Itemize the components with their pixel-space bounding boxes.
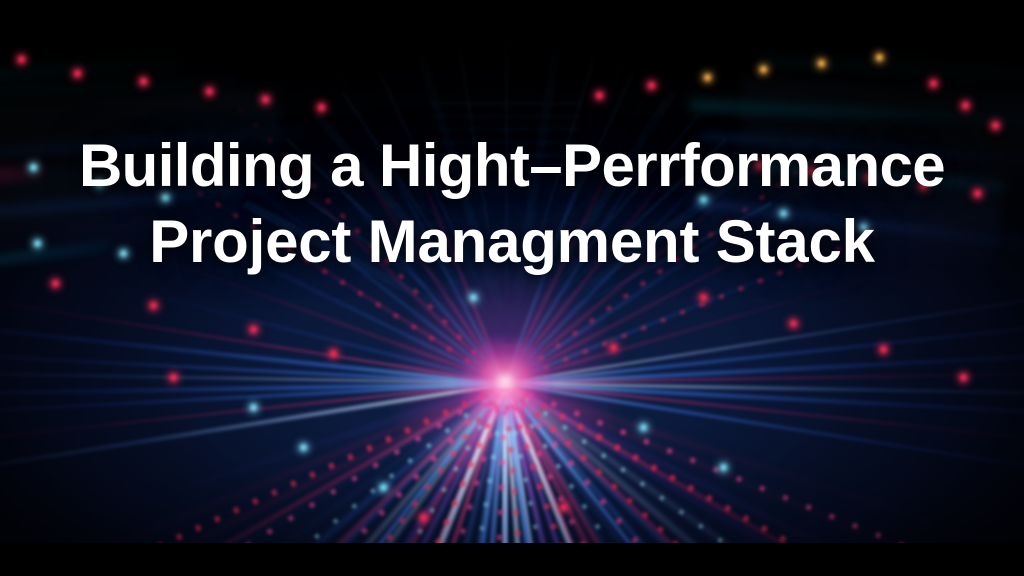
led-light bbox=[52, 280, 59, 287]
vanishing-point-glow bbox=[455, 334, 555, 430]
led-light bbox=[962, 102, 969, 109]
led-light bbox=[960, 374, 967, 381]
led-light bbox=[250, 326, 257, 333]
led-light bbox=[930, 80, 937, 87]
led-light bbox=[760, 66, 767, 73]
led-light bbox=[380, 484, 387, 491]
led-light bbox=[560, 504, 567, 511]
led-light bbox=[250, 404, 257, 411]
led-light bbox=[420, 514, 427, 521]
led-light bbox=[206, 88, 213, 95]
led-light bbox=[596, 92, 603, 99]
background-image bbox=[0, 44, 1024, 543]
letterbox-bar-bottom bbox=[0, 543, 1024, 576]
led-light bbox=[704, 74, 711, 81]
led-light bbox=[140, 78, 147, 85]
led-light bbox=[300, 444, 307, 451]
headline-line-2: Project Managment Stack bbox=[0, 204, 1024, 280]
led-light bbox=[876, 54, 883, 61]
led-light bbox=[818, 60, 825, 67]
led-light bbox=[610, 344, 617, 351]
led-light bbox=[720, 464, 727, 471]
led-light bbox=[330, 350, 337, 357]
led-light bbox=[640, 424, 647, 431]
led-light bbox=[150, 302, 157, 309]
page-title: Building a Hight–Perrformance Project Ma… bbox=[0, 128, 1024, 280]
led-light bbox=[648, 82, 655, 89]
led-light bbox=[470, 294, 477, 301]
led-light bbox=[790, 320, 797, 327]
led-light bbox=[74, 70, 81, 77]
hero-banner: Building a Hight–Perrformance Project Ma… bbox=[0, 0, 1024, 576]
led-light bbox=[170, 374, 177, 381]
led-light bbox=[18, 56, 25, 63]
led-light bbox=[700, 294, 707, 301]
headline-line-1: Building a Hight–Perrformance bbox=[0, 128, 1024, 204]
led-light bbox=[318, 104, 325, 111]
led-light bbox=[262, 96, 269, 103]
led-light bbox=[880, 346, 887, 353]
letterbox-bar-top bbox=[0, 0, 1024, 44]
